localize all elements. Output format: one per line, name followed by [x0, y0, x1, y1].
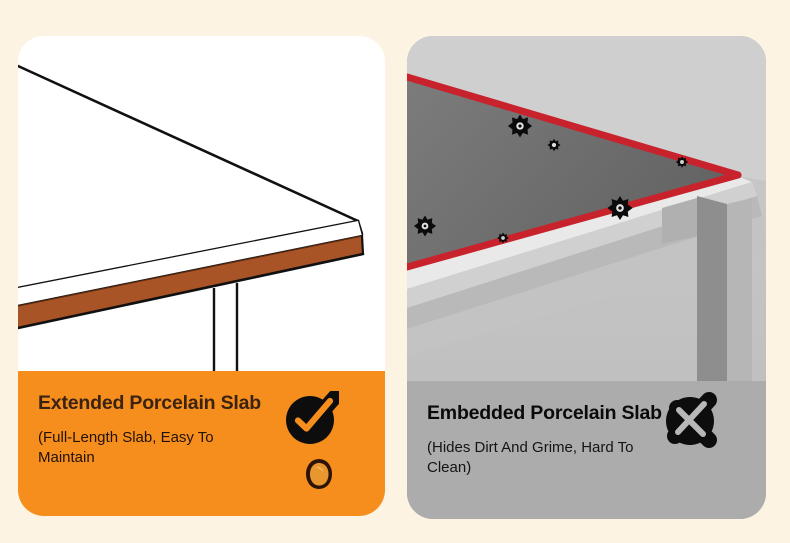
- cross-circle-glyph: [663, 392, 719, 448]
- check-circle-glyph: [283, 391, 339, 447]
- table-corner-extended-slab-illustration: [18, 36, 385, 372]
- table-corner-embedded-slab-illustration: [407, 36, 766, 381]
- extended-slab-subtitle: (Full-Length Slab, Easy To Maintain: [38, 428, 268, 466]
- stain-drop-icon: [303, 457, 335, 491]
- comparison-stage: Extended Porcelain Slab (Full-Length Sla…: [0, 0, 790, 543]
- stain-drop-glyph: [303, 457, 335, 491]
- embedded-slab-subtitle: (Hides Dirt And Grime, Hard To Clean): [427, 438, 657, 476]
- embedded-slab-drawing: [407, 36, 766, 381]
- check-circle-icon: [283, 391, 339, 447]
- cross-circle-icon: [663, 392, 719, 448]
- extended-slab-drawing: [18, 36, 385, 372]
